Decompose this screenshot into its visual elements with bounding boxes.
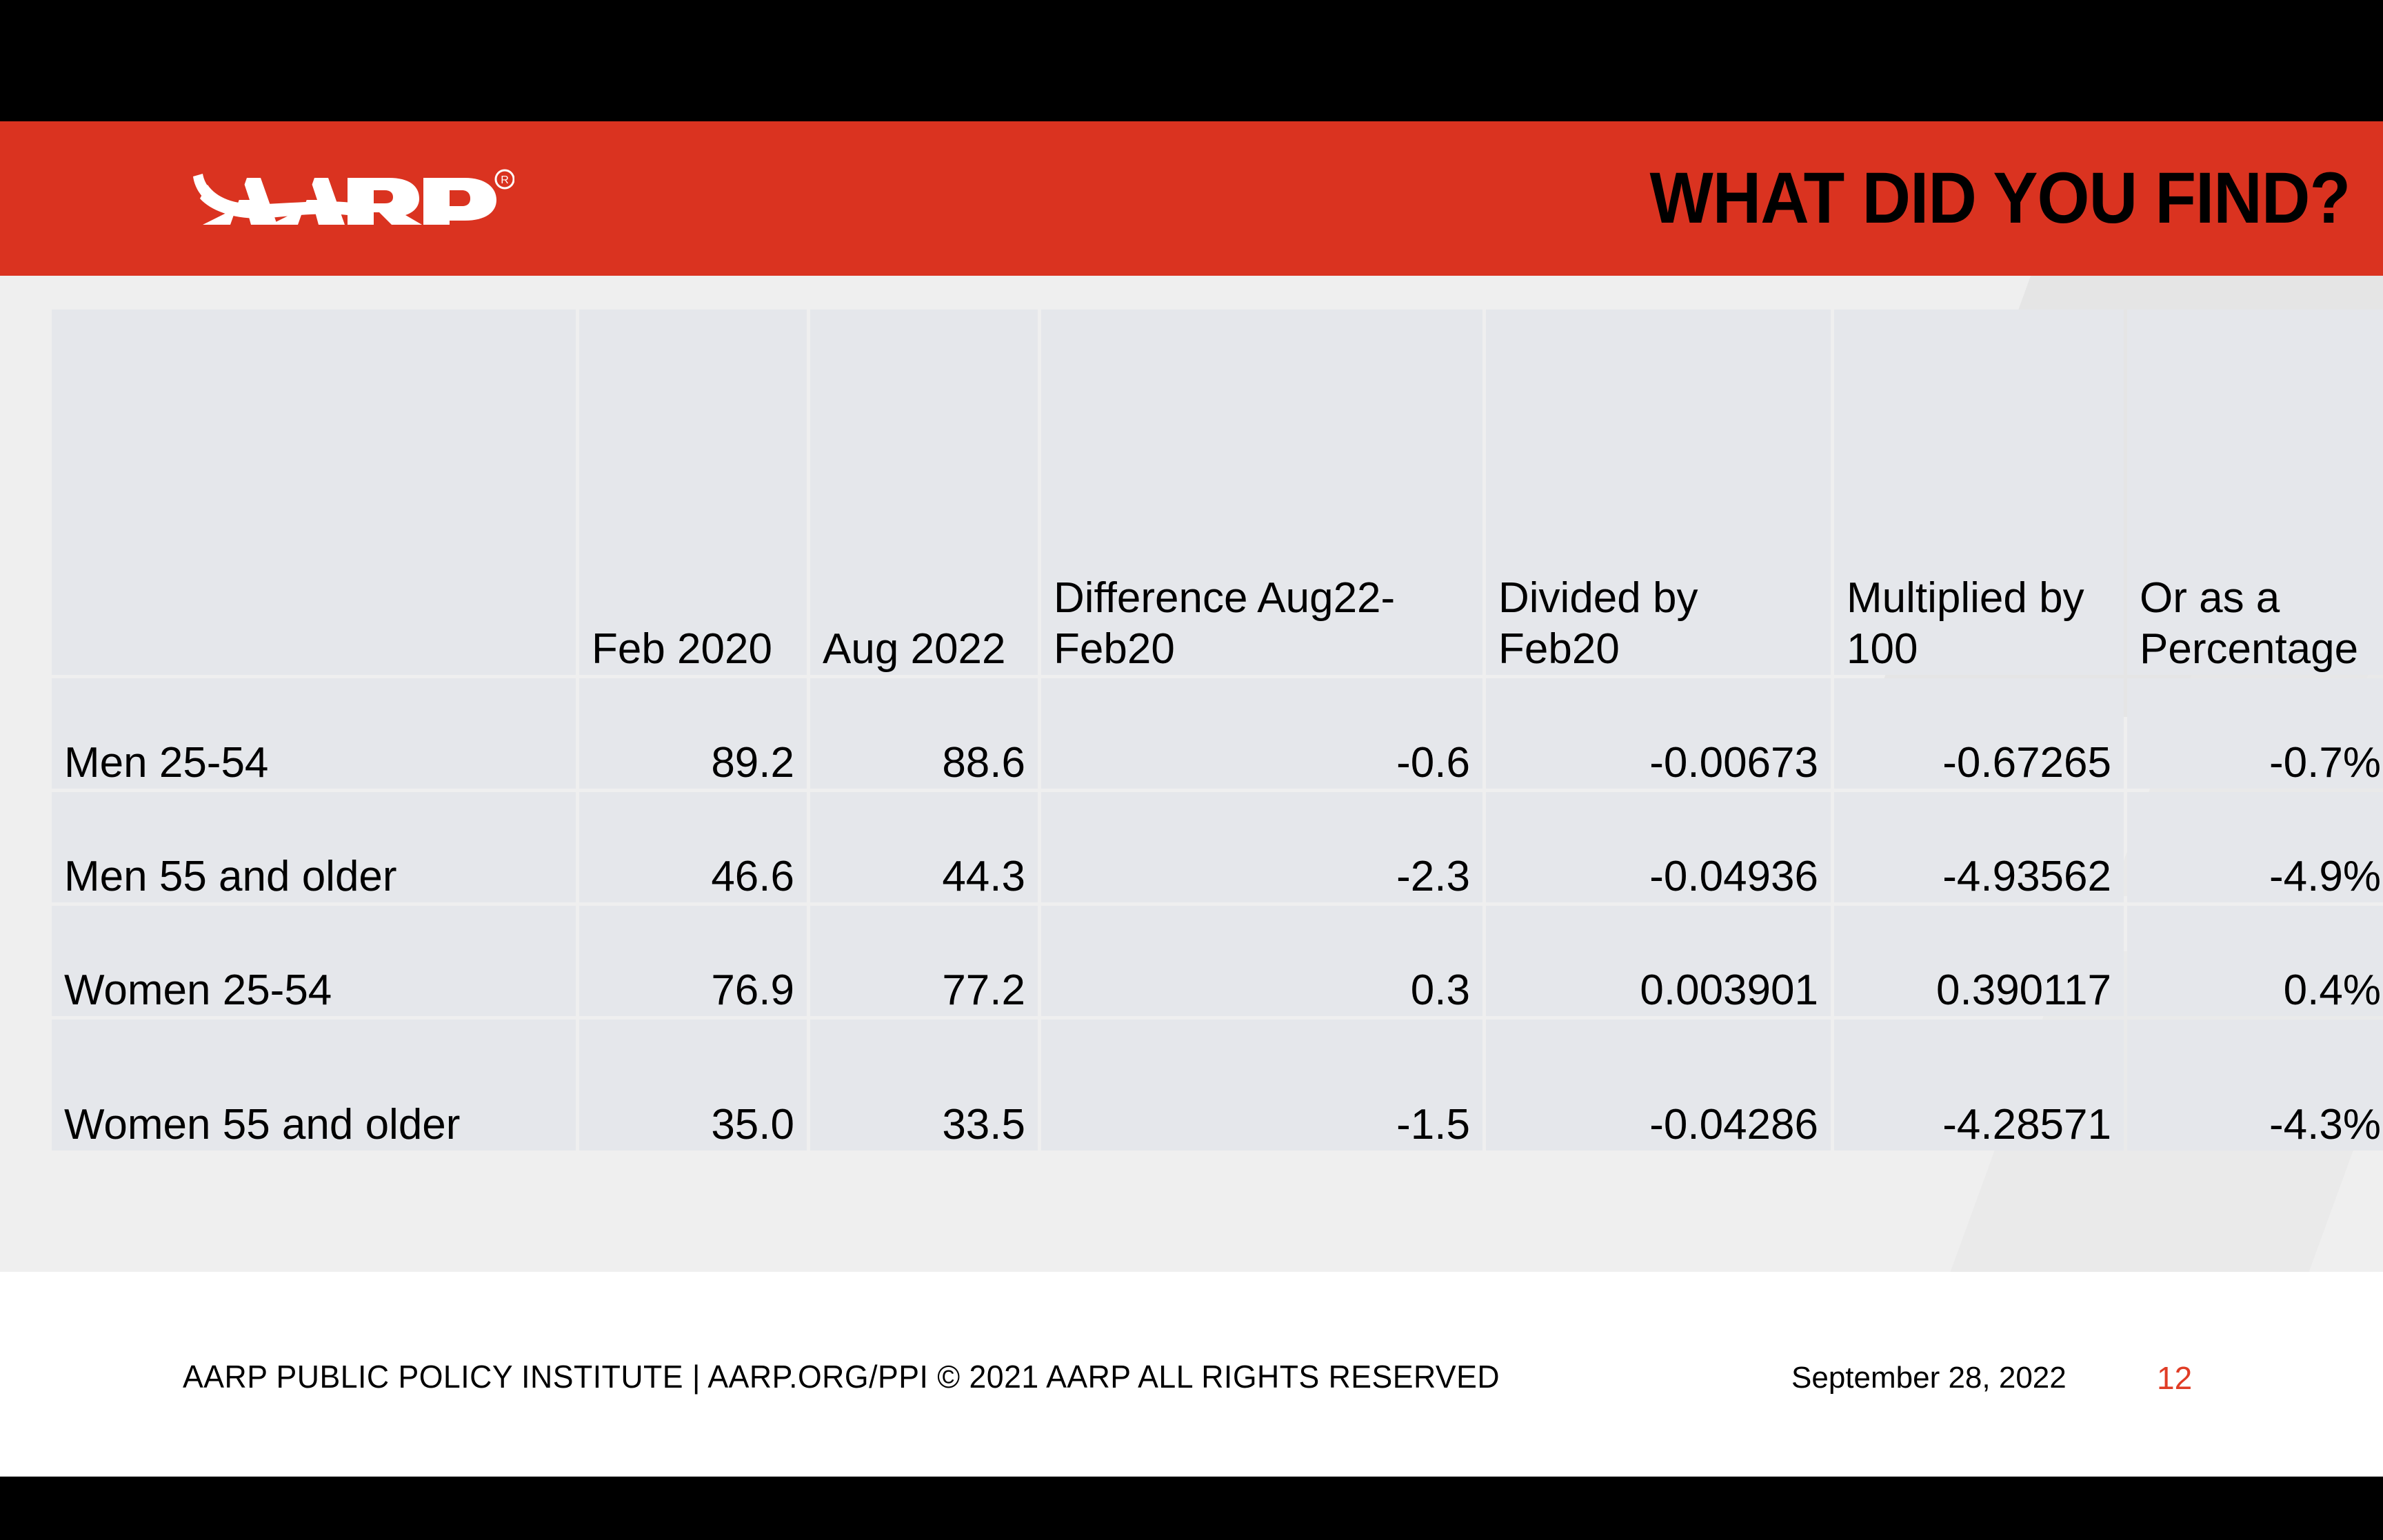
cell-multiplied: -0.67265 xyxy=(1834,678,2124,789)
column-header-multiplied: Multiplied by 100 xyxy=(1834,310,2124,675)
cell-divided: -0.04286 xyxy=(1486,1020,1831,1151)
cell-percent: -4.3% xyxy=(2127,1020,2383,1151)
cell-aug2022: 33.5 xyxy=(810,1020,1038,1151)
cell-divided: -0.00673 xyxy=(1486,678,1831,789)
slide-header-band: R WHAT DID YOU FIND? xyxy=(0,121,2383,276)
data-table: Feb 2020 Aug 2022 Difference Aug22-Feb20… xyxy=(48,306,2383,1154)
slide-body: Feb 2020 Aug 2022 Difference Aug22-Feb20… xyxy=(0,276,2383,1272)
column-header-feb2020: Feb 2020 xyxy=(579,310,807,675)
table-row: Women 25-54 76.9 77.2 0.3 0.003901 0.390… xyxy=(52,906,2383,1016)
column-header-difference: Difference Aug22-Feb20 xyxy=(1041,310,1482,675)
row-label: Women 55 and older xyxy=(52,1020,576,1151)
footer-page-number: 12 xyxy=(2157,1359,2192,1397)
cell-divided: -0.04936 xyxy=(1486,792,1831,902)
cell-difference: -0.6 xyxy=(1041,678,1482,789)
row-label: Women 25-54 xyxy=(52,906,576,1016)
footer-credit: AARP PUBLIC POLICY INSTITUTE | AARP.ORG/… xyxy=(183,1357,1500,1396)
cell-feb2020: 35.0 xyxy=(579,1020,807,1151)
table-header-row: Feb 2020 Aug 2022 Difference Aug22-Feb20… xyxy=(52,310,2383,675)
table-row: Men 25-54 89.2 88.6 -0.6 -0.00673 -0.672… xyxy=(52,678,2383,789)
slide-footer: AARP PUBLIC POLICY INSTITUTE | AARP.ORG/… xyxy=(0,1272,2383,1477)
cell-difference: -2.3 xyxy=(1041,792,1482,902)
cell-difference: 0.3 xyxy=(1041,906,1482,1016)
cell-feb2020: 46.6 xyxy=(579,792,807,902)
cell-percent: -4.9% xyxy=(2127,792,2383,902)
letterbox-top-bar xyxy=(0,0,2383,121)
column-header-divided: Divided by Feb20 xyxy=(1486,310,1831,675)
data-table-container: Feb 2020 Aug 2022 Difference Aug22-Feb20… xyxy=(48,306,2335,1154)
letterbox-bottom-bar xyxy=(0,1477,2383,1540)
row-label: Men 25-54 xyxy=(52,678,576,789)
cell-multiplied: 0.390117 xyxy=(1834,906,2124,1016)
footer-date: September 28, 2022 xyxy=(1791,1359,2067,1397)
cell-aug2022: 44.3 xyxy=(810,792,1038,902)
cell-aug2022: 77.2 xyxy=(810,906,1038,1016)
column-header-blank xyxy=(52,310,576,675)
cell-difference: -1.5 xyxy=(1041,1020,1482,1151)
column-header-percentage: Or as a Percentage xyxy=(2127,310,2383,675)
table-row: Men 55 and older 46.6 44.3 -2.3 -0.04936… xyxy=(52,792,2383,902)
cell-divided: 0.003901 xyxy=(1486,906,1831,1016)
svg-text:R: R xyxy=(501,174,509,186)
cell-percent: -0.7% xyxy=(2127,678,2383,789)
cell-aug2022: 88.6 xyxy=(810,678,1038,789)
cell-multiplied: -4.93562 xyxy=(1834,792,2124,902)
aarp-logo: R xyxy=(170,160,514,243)
row-label: Men 55 and older xyxy=(52,792,576,902)
slide: R WHAT DID YOU FIND? Feb 2020 Aug 2022 xyxy=(0,121,2383,1477)
column-header-aug2022: Aug 2022 xyxy=(810,310,1038,675)
cell-feb2020: 76.9 xyxy=(579,906,807,1016)
cell-percent: 0.4% xyxy=(2127,906,2383,1016)
page-title: WHAT DID YOU FIND? xyxy=(1649,150,2350,247)
table-row: Women 55 and older 35.0 33.5 -1.5 -0.042… xyxy=(52,1020,2383,1151)
cell-multiplied: -4.28571 xyxy=(1834,1020,2124,1151)
cell-feb2020: 89.2 xyxy=(579,678,807,789)
